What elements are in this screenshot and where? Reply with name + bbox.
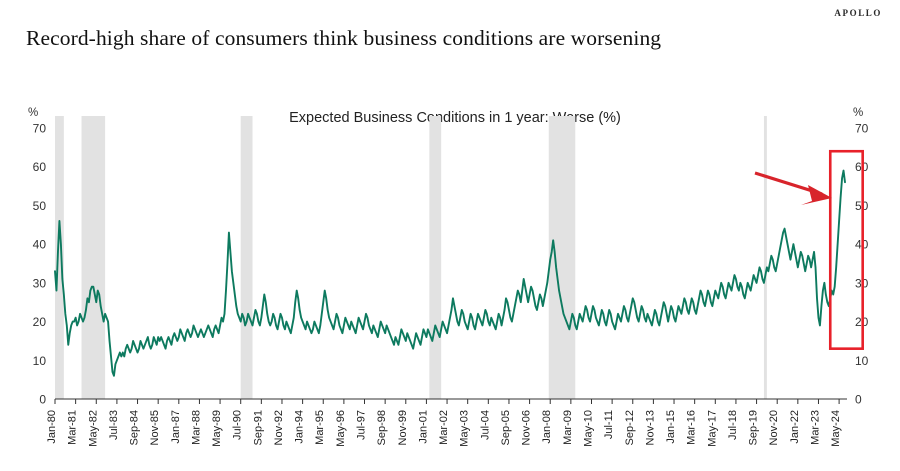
x-axis-tick-label: May-03 <box>459 410 471 447</box>
x-axis-tick-label: Nov-20 <box>768 410 780 445</box>
x-axis-tick-label: May-17 <box>706 410 718 447</box>
x-axis-tick-label: Jan-15 <box>665 410 677 444</box>
x-axis-tick-label: May-10 <box>583 410 595 447</box>
recession-band <box>55 116 64 399</box>
x-axis-tick-label: Sep-91 <box>252 410 264 445</box>
y-axis-tick-label-right: 10 <box>855 354 869 368</box>
x-axis-tick-label: Sep-05 <box>500 410 512 445</box>
x-axis-tick-label: Nov-85 <box>149 410 161 445</box>
x-axis-tick-label: Jan-80 <box>46 410 58 444</box>
recession-band <box>429 116 441 399</box>
x-axis-tick-label: Nov-99 <box>397 410 409 445</box>
apollo-logo: APOLLO <box>834 8 882 18</box>
x-axis-tick-label: Nov-06 <box>521 410 533 445</box>
x-axis-tick-label: Mar-81 <box>67 410 79 445</box>
x-axis-tick-label: Jan-22 <box>789 410 801 444</box>
x-axis-tick-label: Jan-08 <box>541 410 553 444</box>
chart-page: APOLLO Record-high share of consumers th… <box>0 0 900 471</box>
y-axis-tick-label: 30 <box>33 276 47 290</box>
x-axis-tick-label: Sep-12 <box>624 410 636 445</box>
x-axis-tick-label: Jul-97 <box>356 410 368 440</box>
x-axis-tick-label: Jul-83 <box>108 410 120 440</box>
line-chart: 001010202030304040505060607070Jan-80Mar-… <box>0 100 900 471</box>
recession-band <box>549 116 576 399</box>
x-axis-tick-label: Nov-13 <box>644 410 656 445</box>
y-axis-tick-label: 10 <box>33 354 47 368</box>
y-axis-tick-label: 40 <box>33 238 47 252</box>
x-axis-tick-label: Jul-90 <box>232 410 244 440</box>
x-axis-tick-label: Mar-88 <box>190 410 202 445</box>
x-axis-tick-label: Mar-02 <box>438 410 450 445</box>
y-axis-tick-label: 60 <box>33 160 47 174</box>
x-axis-tick-label: Mar-09 <box>562 410 574 445</box>
x-axis-tick-label: May-96 <box>335 410 347 447</box>
recession-band <box>82 116 106 399</box>
x-axis-tick-label: May-89 <box>211 410 223 447</box>
x-axis-tick-label: Mar-16 <box>686 410 698 445</box>
x-axis-tick-label: May-24 <box>830 410 842 447</box>
chart-container: % % Expected Business Conditions in 1 ye… <box>0 100 900 471</box>
x-axis-tick-label: May-82 <box>87 410 99 447</box>
data-series-line <box>55 171 845 376</box>
y-axis-tick-label-right: 0 <box>855 393 862 407</box>
x-axis-tick-label: Sep-19 <box>748 410 760 445</box>
y-axis-tick-label: 70 <box>33 122 47 136</box>
recession-band <box>764 116 767 399</box>
x-axis-tick-label: Jul-18 <box>727 410 739 440</box>
y-axis-tick-label: 0 <box>39 393 46 407</box>
y-axis-tick-label-right: 70 <box>855 122 869 136</box>
x-axis-tick-label: Jan-01 <box>417 410 429 444</box>
y-axis-tick-label: 20 <box>33 315 47 329</box>
y-axis-tick-label: 50 <box>33 199 47 213</box>
x-axis-tick-label: Jan-87 <box>170 410 182 444</box>
x-axis-tick-label: Jan-94 <box>294 410 306 444</box>
x-axis-tick-label: Nov-92 <box>273 410 285 445</box>
x-axis-tick-label: Jul-11 <box>603 410 615 439</box>
x-axis-tick-label: Mar-23 <box>810 410 822 445</box>
x-axis-tick-label: Sep-84 <box>129 410 141 445</box>
recession-band <box>241 116 253 399</box>
x-axis-tick-label: Jul-04 <box>479 410 491 440</box>
x-axis-tick-label: Mar-95 <box>314 410 326 445</box>
page-title: Record-high share of consumers think bus… <box>26 26 661 51</box>
x-axis-tick-label: Sep-98 <box>376 410 388 445</box>
